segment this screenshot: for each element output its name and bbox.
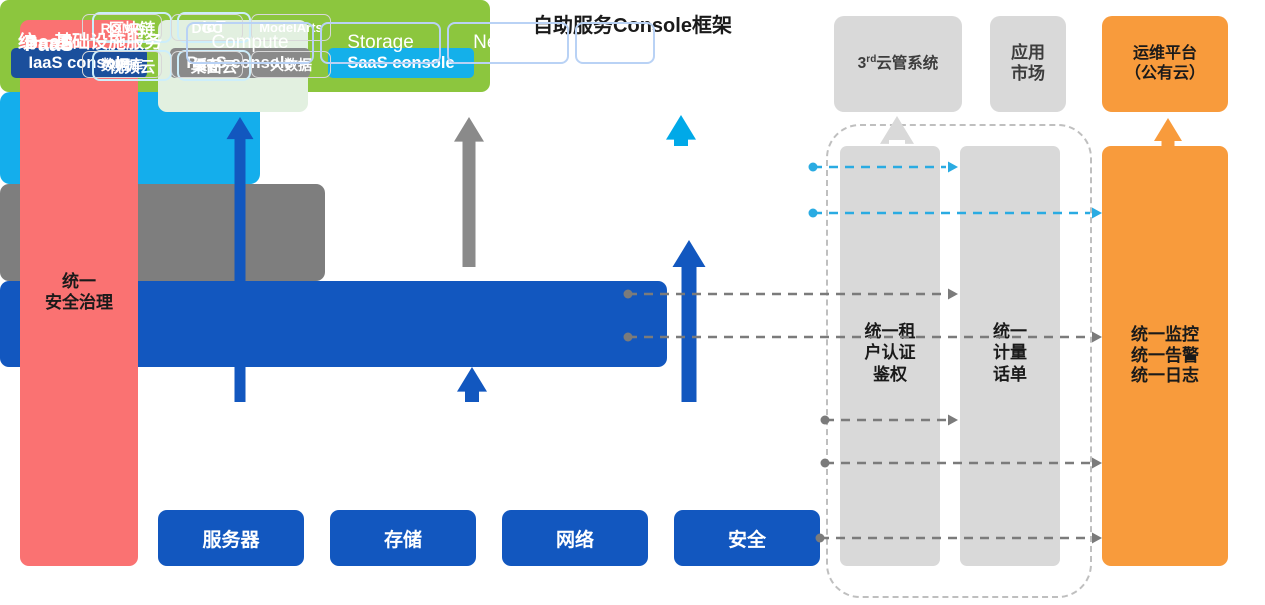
infra-chip-compute[interactable]: Compute bbox=[186, 22, 314, 64]
app-market-label: 应用市场 bbox=[1011, 43, 1045, 84]
security-governance-label: 统一安全治理 bbox=[45, 272, 113, 313]
unified-metering-column: 统一计量话单 bbox=[960, 146, 1060, 566]
arrow-saas-to-console bbox=[666, 115, 696, 146]
arrow-infra-to-paas bbox=[457, 367, 487, 402]
security-governance-column: 统一安全治理 bbox=[20, 20, 138, 566]
bottom-box-network[interactable]: 网络 bbox=[502, 510, 648, 566]
paas-chip-database[interactable]: 数据库 bbox=[82, 51, 162, 78]
third-party-cloud-management-box: 3rd云管系统 bbox=[834, 16, 962, 112]
arrow-infra-to-saas bbox=[673, 240, 706, 402]
ops-platform-public-cloud-box: 运维平台（公有云） bbox=[1102, 16, 1228, 112]
unified-monitoring-label: 统一监控统一告警统一日志 bbox=[1131, 325, 1199, 387]
bottom-box-security[interactable]: 安全 bbox=[674, 510, 820, 566]
arrow-paas-to-console bbox=[454, 117, 484, 267]
app-market-box: 应用市场 bbox=[990, 16, 1066, 112]
unified-tenant-auth-label: 统一租户认证鉴权 bbox=[865, 321, 916, 384]
infra-chip-cce[interactable]: CCE bbox=[575, 22, 655, 64]
bottom-box-server[interactable]: 服务器 bbox=[158, 510, 304, 566]
arrow-ops-column-up bbox=[1154, 118, 1182, 146]
infra-chip-network[interactable]: Network bbox=[447, 22, 569, 64]
infra-chip-storage[interactable]: Storage bbox=[320, 22, 441, 64]
unified-monitoring-column: 统一监控统一告警统一日志 bbox=[1102, 146, 1228, 566]
bottom-box-storage[interactable]: 存储 bbox=[330, 510, 476, 566]
unified-infrastructure-label: 统一基础设施服务 bbox=[18, 28, 162, 54]
ops-platform-public-cloud-label: 运维平台（公有云） bbox=[1125, 44, 1205, 83]
third-party-cloud-management-label: 3rd云管系统 bbox=[858, 54, 939, 74]
unified-metering-label: 统一计量话单 bbox=[993, 321, 1027, 384]
unified-tenant-auth-column: 统一租户认证鉴权 bbox=[840, 146, 940, 566]
